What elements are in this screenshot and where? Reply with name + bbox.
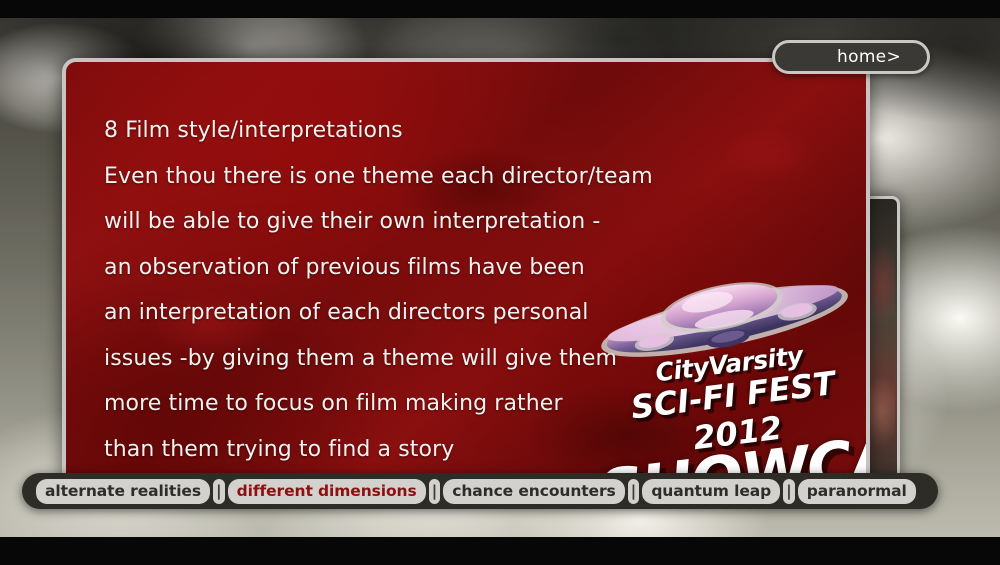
nav-item-different-dimensions[interactable]: different dimensions: [228, 479, 426, 504]
nav-separator-3: |: [628, 479, 640, 504]
content-panel: 8 Film style/interpretations Even thou t…: [62, 58, 870, 490]
letterbox-bottom: [0, 537, 1000, 565]
nav-item-quantum-leap[interactable]: quantum leap: [642, 479, 780, 504]
nav-separator-1: |: [213, 479, 225, 504]
nav-separator-2: |: [429, 479, 441, 504]
copy-line-7: more time to focus on film making rather: [104, 381, 764, 427]
copy-line-1: 8 Film style/interpretations: [104, 108, 764, 154]
nav-item-paranormal[interactable]: paranormal: [798, 479, 916, 504]
copy-line-6: issues -by giving them a theme will give…: [104, 336, 764, 382]
body-copy: 8 Film style/interpretations Even thou t…: [104, 108, 764, 472]
letterbox-top: [0, 0, 1000, 18]
nav-items: alternate realities | different dimensio…: [36, 479, 916, 504]
nav-item-chance-encounters[interactable]: chance encounters: [443, 479, 624, 504]
copy-line-3: will be able to give their own interpret…: [104, 199, 764, 245]
nav-separator-4: |: [783, 479, 795, 504]
home-button-label: home>: [837, 47, 901, 67]
home-button[interactable]: home>: [772, 40, 930, 74]
copy-line-2: Even thou there is one theme each direct…: [104, 154, 764, 200]
copy-line-8: than them trying to find a story: [104, 427, 764, 473]
bottom-navigation: alternate realities | different dimensio…: [22, 473, 938, 509]
page-root: 8 Film style/interpretations Even thou t…: [0, 0, 1000, 565]
copy-line-4: an observation of previous films have be…: [104, 245, 764, 291]
nav-item-alternate-realities[interactable]: alternate realities: [36, 479, 210, 504]
copy-line-5: an interpretation of each directors pers…: [104, 290, 764, 336]
